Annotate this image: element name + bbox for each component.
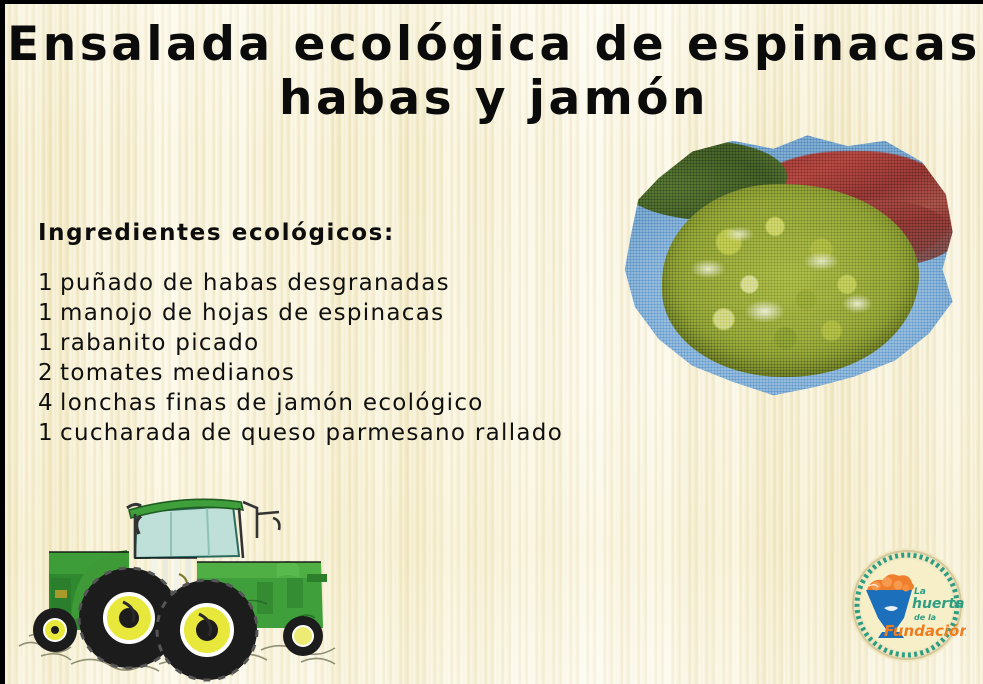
ingredient-text: puñado de habas desgranadas — [60, 270, 450, 296]
ingredient-text: manojo de hojas de espinacas — [60, 300, 444, 326]
foundation-logo[interactable]: La huerta de la Fundación — [848, 546, 966, 664]
ingredient-text: rabanito picado — [60, 330, 260, 356]
ingredient-text: lonchas finas de jamón ecológico — [60, 390, 484, 416]
tractor-small-wheel — [33, 608, 77, 652]
ingredients-list: 1 puñado de habas desgranadas 1 manojo d… — [38, 268, 563, 448]
ingredients-heading: Ingredientes ecológicos: — [38, 220, 563, 246]
ingredient-item: 2 tomates medianos — [38, 358, 563, 388]
ingredient-item: 1 rabanito picado — [38, 328, 563, 358]
ingredient-text: tomates medianos — [60, 360, 295, 386]
ingredient-quantity: 1 — [38, 418, 60, 448]
dish-photo — [618, 130, 956, 398]
ingredient-item: 1 cucharada de queso parmesano rallado — [38, 418, 563, 448]
ingredient-text: cucharada de queso parmesano rallado — [60, 420, 563, 446]
ingredient-item: 1 puñado de habas desgranadas — [38, 268, 563, 298]
tractor-illustration — [11, 478, 351, 684]
tractor-front-wheel — [157, 580, 257, 680]
dish-photo-mask — [618, 130, 956, 398]
title-line-1: Ensalada ecológica de espinacas — [5, 18, 983, 72]
logo-text-huerta: huerta — [912, 596, 964, 612]
ingredient-quantity: 4 — [38, 388, 60, 418]
canvas-weave-overlay — [618, 130, 956, 398]
recipe-title: Ensalada ecológica de espinacas habas y … — [5, 18, 983, 126]
paper-background: Ensalada ecológica de espinacas habas y … — [5, 4, 983, 684]
logo-text-fundacion: Fundación — [884, 622, 966, 640]
ingredient-quantity: 1 — [38, 298, 60, 328]
tractor-small-wheel-right — [283, 616, 323, 656]
logo-text-dela: de la — [914, 613, 936, 622]
title-line-2: habas y jamón — [5, 72, 983, 126]
ingredient-quantity: 1 — [38, 328, 60, 358]
ingredients-section: Ingredientes ecológicos: 1 puñado de hab… — [38, 220, 563, 448]
ingredient-item: 4 lonchas finas de jamón ecológico — [38, 388, 563, 418]
ingredient-quantity: 1 — [38, 268, 60, 298]
ingredient-item: 1 manojo de hojas de espinacas — [38, 298, 563, 328]
recipe-card: Ensalada ecológica de espinacas habas y … — [0, 0, 983, 684]
ingredient-quantity: 2 — [38, 358, 60, 388]
